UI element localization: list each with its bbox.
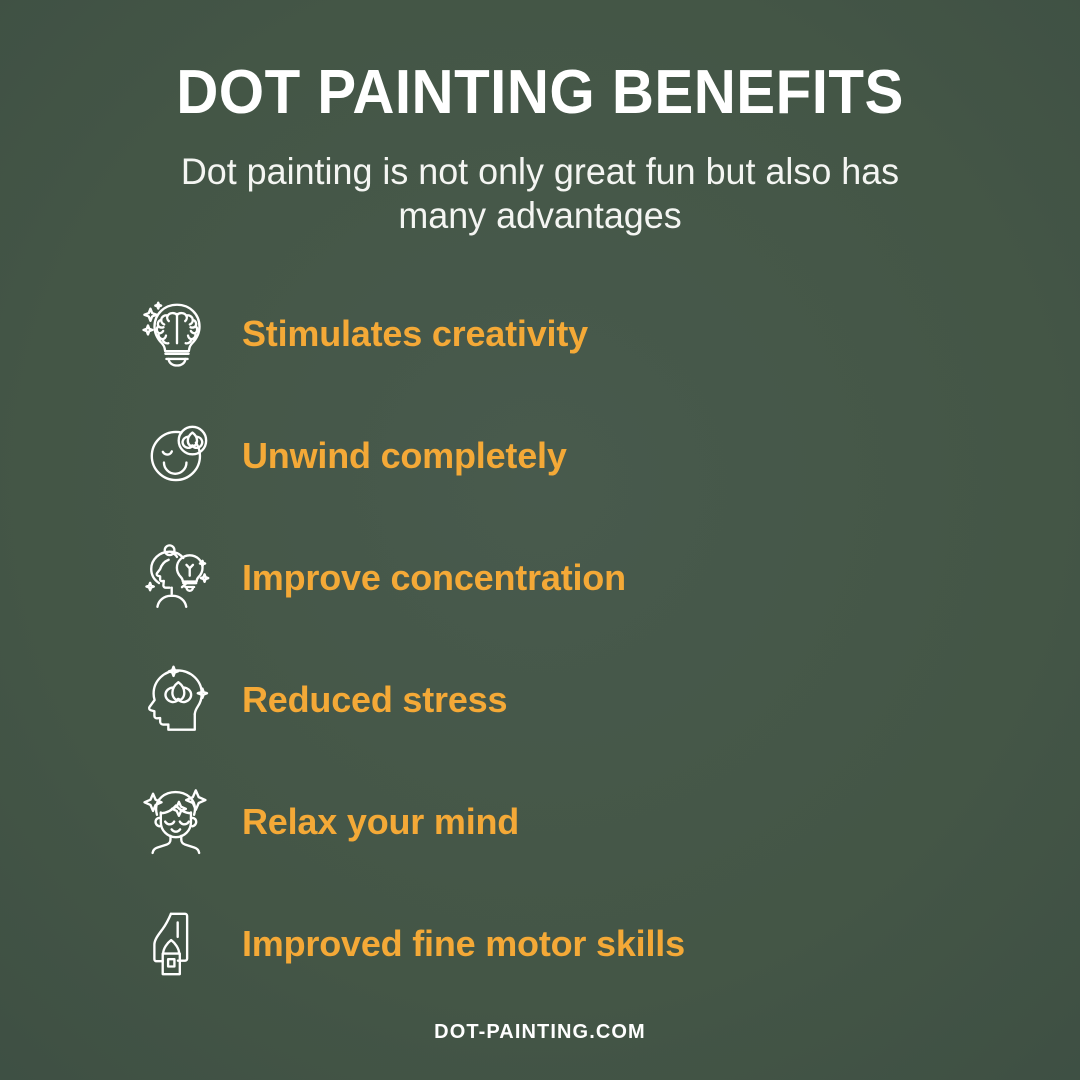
page-subtitle: Dot painting is not only great fun but a…: [157, 150, 923, 237]
list-item: Unwind completely: [138, 410, 958, 502]
footer: DOT-PAINTING.COM: [0, 1021, 1080, 1044]
list-item: Improve concentration: [138, 532, 958, 624]
list-item: Reduced stress: [138, 654, 958, 746]
list-item: Improved fine motor skills: [138, 898, 958, 990]
head-profile-lotus-icon: [138, 659, 216, 741]
hand-holding-object-icon: [138, 903, 216, 985]
benefit-label: Reduced stress: [242, 679, 507, 721]
list-item: Stimulates creativity: [138, 288, 958, 380]
page-title: DOT PAINTING BENEFITS: [32, 62, 1047, 124]
header: DOT PAINTING BENEFITS Dot painting is no…: [0, 62, 1080, 237]
benefit-label: Relax your mind: [242, 801, 519, 843]
smiling-face-lotus-icon: [138, 415, 216, 497]
benefit-label: Improved fine motor skills: [242, 923, 685, 965]
list-item: Relax your mind: [138, 776, 958, 868]
lightbulb-brain-icon: [138, 293, 216, 375]
infographic-poster: DOT PAINTING BENEFITS Dot painting is no…: [0, 0, 1080, 1080]
relaxed-face-sparkles-icon: [138, 781, 216, 863]
benefit-label: Improve concentration: [242, 557, 626, 599]
benefits-list: Stimulates creativity: [138, 288, 958, 1020]
benefit-label: Stimulates creativity: [242, 313, 588, 355]
head-profile-lightbulb-icon: [138, 537, 216, 619]
website-url: DOT-PAINTING.COM: [434, 1021, 646, 1043]
benefit-label: Unwind completely: [242, 435, 567, 477]
